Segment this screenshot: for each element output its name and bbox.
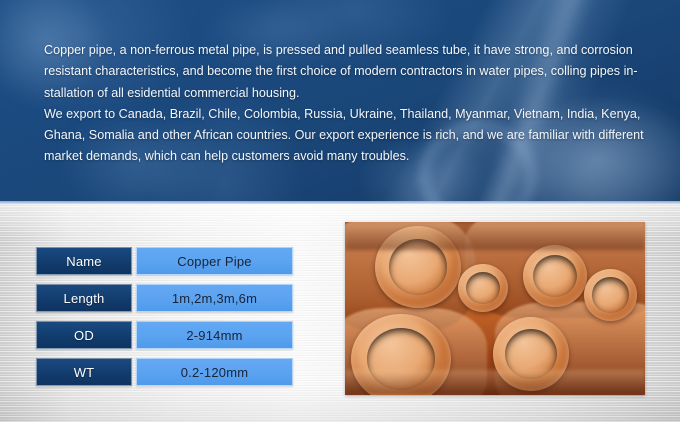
spec-value-wt: 0.2-120mm bbox=[136, 358, 293, 386]
spec-label-name: Name bbox=[36, 247, 132, 275]
table-row: Length 1m,2m,3m,6m bbox=[36, 284, 294, 312]
spec-label-length: Length bbox=[36, 284, 132, 312]
photo-pipe-mouth bbox=[584, 269, 637, 321]
specification-table: Name Copper Pipe Length 1m,2m,3m,6m OD 2… bbox=[36, 247, 294, 395]
photo-pipe-mouth bbox=[351, 314, 451, 395]
spec-label-od: OD bbox=[36, 321, 132, 349]
photo-pipe-mouth bbox=[458, 264, 508, 312]
photo-pipe-mouth bbox=[523, 245, 587, 307]
product-info-banner: Copper pipe, a non-ferrous metal pipe, i… bbox=[0, 0, 680, 422]
table-row: WT 0.2-120mm bbox=[36, 358, 294, 386]
spec-value-name: Copper Pipe bbox=[136, 247, 293, 275]
spec-value-length: 1m,2m,3m,6m bbox=[136, 284, 293, 312]
photo-pipe-mouth bbox=[375, 226, 461, 308]
copper-pipes-photo bbox=[345, 222, 645, 395]
spec-value-od: 2-914mm bbox=[136, 321, 293, 349]
spec-label-wt: WT bbox=[36, 358, 132, 386]
description-paragraph: Copper pipe, a non-ferrous metal pipe, i… bbox=[44, 40, 648, 168]
table-row: OD 2-914mm bbox=[36, 321, 294, 349]
photo-pipe-mouth bbox=[493, 317, 569, 391]
table-row: Name Copper Pipe bbox=[36, 247, 294, 275]
